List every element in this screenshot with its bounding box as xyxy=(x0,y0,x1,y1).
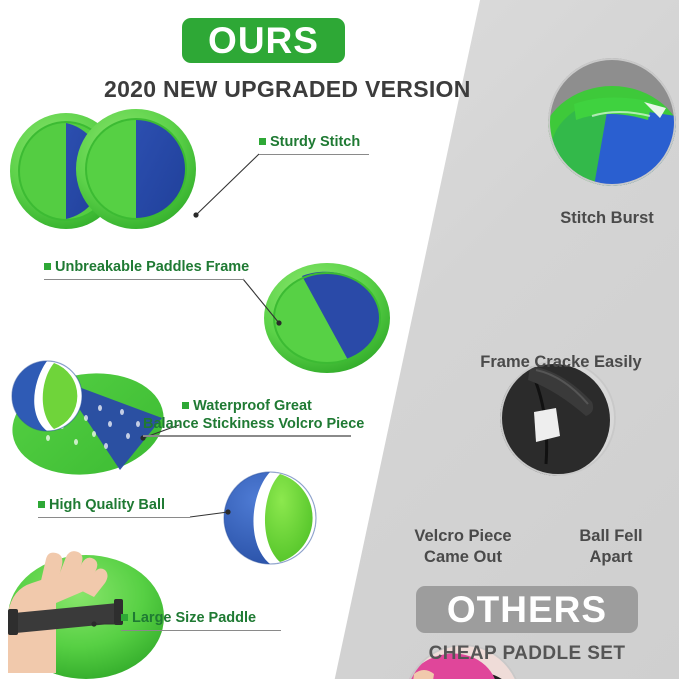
others-badge: OTHERS xyxy=(416,586,638,633)
callout-large-size-paddle: Large Size Paddle xyxy=(121,610,281,631)
callout-underline xyxy=(259,154,369,156)
photo-stitch-burst xyxy=(548,58,676,186)
callout-label: Large Size Paddle xyxy=(132,610,256,626)
callout-underline xyxy=(44,279,244,281)
bullet-icon xyxy=(38,501,45,508)
callout-underline xyxy=(38,517,190,519)
callout-underline xyxy=(143,435,351,437)
caption-ball-fell-apart: Ball Fell Apart xyxy=(533,526,679,567)
bullet-icon xyxy=(44,263,51,270)
callout-sturdy-stitch: Sturdy Stitch xyxy=(259,134,369,155)
ours-badge: OURS xyxy=(182,18,345,63)
others-badge-label: OTHERS xyxy=(447,591,607,628)
callout-label-line2: Balance Stickiness Volcro Piece xyxy=(143,416,351,434)
bullet-icon xyxy=(259,138,266,145)
comparison-infographic: OURS 2020 NEW UPGRADED VERSION Sturdy St… xyxy=(0,0,679,679)
caption-frame-cracke-easily: Frame Cracke Easily xyxy=(448,352,674,373)
callout-label: Sturdy Stitch xyxy=(270,134,360,150)
caption-velcro-piece-came-out: Velcro Piece Came Out xyxy=(385,526,541,567)
callout-label-line1: Waterproof Great xyxy=(193,398,312,414)
photo-two-green-paddles xyxy=(8,108,208,230)
callout-label: High Quality Ball xyxy=(49,497,165,513)
bullet-icon xyxy=(121,614,128,621)
callout-waterproof-velcro: Waterproof Great Balance Stickiness Volc… xyxy=(143,398,351,437)
callout-high-quality-ball: High Quality Ball xyxy=(38,497,190,518)
callout-label: Unbreakable Paddles Frame xyxy=(55,259,249,275)
photo-frame-cracke-easily xyxy=(500,360,616,476)
caption-stitch-burst: Stitch Burst xyxy=(532,208,679,229)
ours-badge-label: OURS xyxy=(208,22,319,59)
callout-unbreakable-frame: Unbreakable Paddles Frame xyxy=(44,259,244,280)
bullet-icon xyxy=(182,402,189,409)
photo-blue-green-ball xyxy=(222,470,318,566)
others-subtitle: CHEAP PADDLE SET xyxy=(416,643,638,665)
ours-subtitle: 2020 NEW UPGRADED VERSION xyxy=(104,76,464,103)
callout-underline xyxy=(121,630,281,632)
photo-single-green-paddle xyxy=(262,262,392,374)
